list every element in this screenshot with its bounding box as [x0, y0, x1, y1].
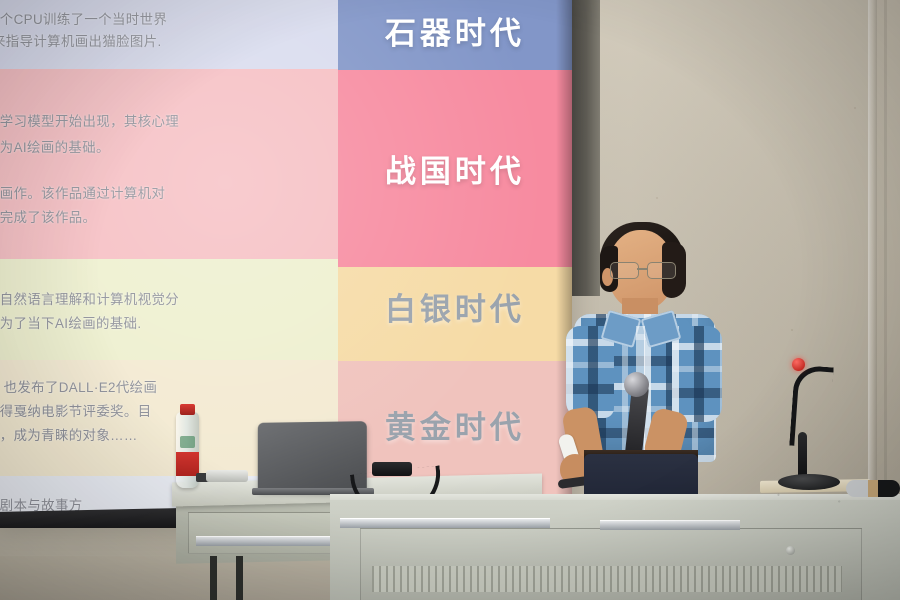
microphone-head: [624, 372, 649, 397]
era-label-golden: 黄金时代: [338, 402, 572, 447]
presenter: [556, 222, 736, 522]
slide-text-line: 度学习模型开始出现，其核心理: [0, 112, 179, 131]
slide-text-line: 成为AI绘画的基础。: [0, 138, 110, 157]
console-knob[interactable]: [786, 546, 795, 555]
slide-text-line: 来指导计算机画出猫脸图片.: [0, 32, 162, 51]
plaid-pattern: [672, 326, 722, 422]
bottle-leaf-graphic: [180, 436, 195, 448]
table-leg: [236, 556, 243, 600]
slide-text-line: 析完成了该作品。: [0, 208, 96, 227]
laptop-dongle: [372, 462, 412, 476]
gooseneck-mic-base: [778, 474, 840, 490]
gooseneck-mic-stem: [798, 432, 807, 480]
handheld-microphone-on-desk: [846, 480, 900, 497]
gooseneck-mic-led-icon: [792, 358, 805, 371]
presenter-remote: [206, 470, 248, 482]
era-label-silver: 白银时代: [338, 284, 572, 329]
slide-band-2: [0, 69, 338, 258]
sleeve-right: [672, 326, 722, 422]
slide-text-line: 万个CPU训练了一个当时世界: [0, 10, 167, 29]
lecture-hall-photo: 万个CPU训练了一个当时世界 来指导计算机画出猫脸图片. 度学习模型开始出现，其…: [0, 0, 900, 600]
slide-text-line: 型，成为青睐的对象……: [0, 426, 138, 445]
console-rail: [600, 520, 740, 530]
console-vents: [372, 566, 842, 592]
bottle-cap: [180, 404, 195, 415]
glasses-bridge: [637, 268, 647, 270]
slide-band-3: [0, 259, 338, 360]
console-rail: [340, 518, 550, 528]
lens-left: [610, 262, 639, 279]
bottle-label: [176, 452, 199, 476]
slide-right-column: 石器时代 战国时代 白银时代 黄金时代: [338, 0, 572, 528]
slide-text-line: AI 也发布了DALL·E2代绘画: [0, 378, 157, 397]
slide-text-line: 的画作。该作品通过计算机对: [0, 184, 165, 203]
slide-text-line: 行自然语言理解和计算机视觉分: [0, 290, 179, 309]
lens-right: [647, 262, 676, 279]
slide-text-line: 获得戛纳电影节评委奖。目: [0, 402, 152, 421]
apple-logo-icon: [305, 450, 320, 467]
era-label-warring: 战国时代: [338, 146, 572, 191]
era-label-stone: 石器时代: [338, 8, 572, 53]
slide-text-line: 成为了当下AI绘画的基础.: [0, 314, 141, 333]
eyeglasses: [610, 262, 676, 277]
table-leg: [210, 556, 217, 600]
